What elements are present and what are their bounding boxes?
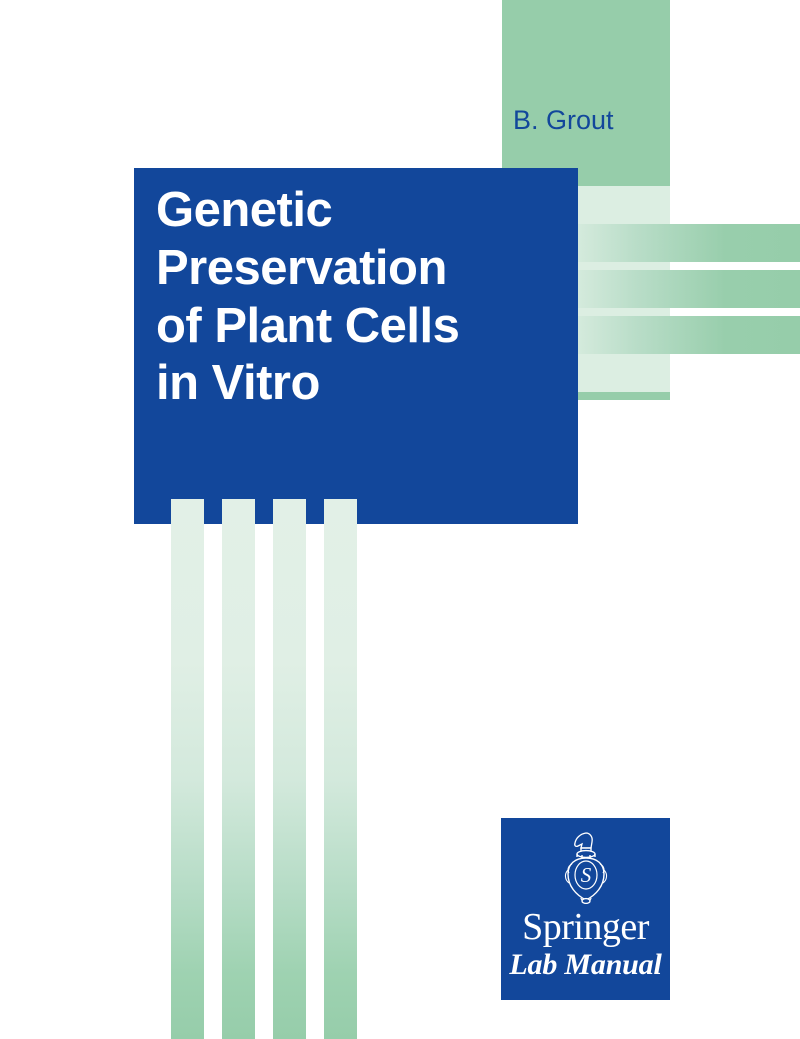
title-line: Genetic <box>156 182 566 240</box>
vertical-stripe <box>171 499 204 1039</box>
publisher-block: S Springer Lab Manual <box>501 818 670 1000</box>
svg-text:S: S <box>580 863 591 887</box>
publisher-series: Lab Manual <box>501 950 670 980</box>
title-line: Preservation <box>156 240 566 298</box>
title-line: in Vitro <box>156 355 566 413</box>
vertical-stripe <box>222 499 255 1039</box>
title-block: Genetic Preservation of Plant Cells in V… <box>134 168 578 524</box>
book-title: Genetic Preservation of Plant Cells in V… <box>156 182 566 413</box>
publisher-name: Springer <box>501 908 670 946</box>
author-name: B. Grout <box>513 105 614 136</box>
title-line: of Plant Cells <box>156 298 566 356</box>
springer-knight-emblem: S <box>555 830 617 904</box>
vertical-stripe <box>273 499 306 1039</box>
vertical-stripe <box>324 499 357 1039</box>
book-cover: B. Grout Genetic Preservation of Plant C… <box>0 0 800 1039</box>
